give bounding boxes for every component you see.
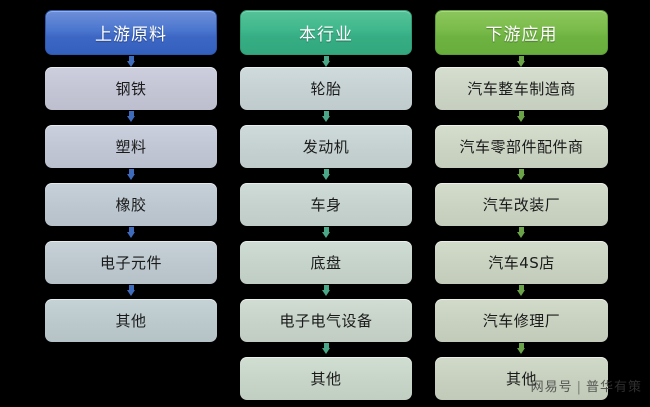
node-downstream-2[interactable]: 汽车改装厂	[435, 183, 608, 226]
node-industry-4[interactable]: 电子电气设备	[240, 299, 412, 342]
arrow-head	[127, 232, 135, 238]
arrow-down-icon	[127, 56, 136, 67]
node-label: 电子电气设备	[279, 310, 372, 331]
arrow-down-icon	[322, 111, 331, 122]
node-label: 橡胶	[115, 194, 146, 215]
node-label: 汽车整车制造商	[467, 78, 576, 99]
arrow-down-icon	[322, 227, 331, 238]
arrow-down-icon	[127, 111, 136, 122]
arrow-head	[517, 174, 525, 180]
node-upstream-1[interactable]: 塑料	[45, 125, 217, 168]
node-label: 汽车修理厂	[483, 310, 561, 331]
column-downstream: 下游应用汽车整车制造商汽车零部件配件商汽车改装厂汽车4S店汽车修理厂其他	[435, 0, 608, 407]
node-label: 其他	[506, 368, 537, 389]
arrow-head	[517, 116, 525, 122]
arrow-down-icon	[127, 285, 136, 296]
arrow-down-icon	[517, 56, 526, 67]
arrow-head	[322, 290, 330, 296]
arrow-down-icon	[517, 111, 526, 122]
arrow-down-icon	[322, 56, 331, 67]
arrow-head	[127, 290, 135, 296]
arrow-head	[127, 174, 135, 180]
industry-chain-diagram: 上游原料钢铁塑料橡胶电子元件其他本行业轮胎发动机车身底盘电子电气设备其他下游应用…	[0, 0, 650, 407]
node-industry-3[interactable]: 底盘	[240, 241, 412, 284]
node-downstream-4[interactable]: 汽车修理厂	[435, 299, 608, 342]
column-header-upstream[interactable]: 上游原料	[45, 10, 217, 55]
node-label: 钢铁	[115, 78, 146, 99]
arrow-head	[322, 232, 330, 238]
node-label: 电子元件	[100, 252, 162, 273]
arrow-down-icon	[322, 285, 331, 296]
column-header-label: 下游应用	[486, 20, 558, 45]
arrow-head	[322, 116, 330, 122]
arrow-down-icon	[322, 169, 331, 180]
column-upstream: 上游原料钢铁塑料橡胶电子元件其他	[45, 0, 217, 407]
node-upstream-2[interactable]: 橡胶	[45, 183, 217, 226]
node-industry-1[interactable]: 发动机	[240, 125, 412, 168]
node-upstream-0[interactable]: 钢铁	[45, 67, 217, 110]
arrow-down-icon	[517, 285, 526, 296]
arrow-head	[517, 290, 525, 296]
node-label: 其他	[310, 368, 341, 389]
arrow-head	[127, 116, 135, 122]
arrow-down-icon	[517, 169, 526, 180]
node-label: 汽车改装厂	[483, 194, 561, 215]
node-label: 汽车零部件配件商	[459, 136, 583, 157]
arrow-down-icon	[517, 227, 526, 238]
node-downstream-0[interactable]: 汽车整车制造商	[435, 67, 608, 110]
column-industry: 本行业轮胎发动机车身底盘电子电气设备其他	[240, 0, 412, 407]
node-label: 发动机	[303, 136, 350, 157]
node-label: 其他	[115, 310, 146, 331]
node-downstream-3[interactable]: 汽车4S店	[435, 241, 608, 284]
node-industry-5[interactable]: 其他	[240, 357, 412, 400]
node-label: 车身	[310, 194, 341, 215]
node-downstream-5[interactable]: 其他	[435, 357, 608, 400]
arrow-down-icon	[517, 343, 526, 354]
arrow-head	[322, 174, 330, 180]
node-industry-2[interactable]: 车身	[240, 183, 412, 226]
node-label: 汽车4S店	[488, 252, 555, 273]
node-label: 底盘	[310, 252, 341, 273]
column-header-industry[interactable]: 本行业	[240, 10, 412, 55]
arrow-head	[517, 232, 525, 238]
arrow-head	[517, 348, 525, 354]
node-downstream-1[interactable]: 汽车零部件配件商	[435, 125, 608, 168]
arrow-down-icon	[127, 169, 136, 180]
arrow-down-icon	[322, 343, 331, 354]
arrow-down-icon	[127, 227, 136, 238]
node-label: 塑料	[115, 136, 146, 157]
node-label: 轮胎	[310, 78, 341, 99]
column-header-label: 上游原料	[95, 20, 167, 45]
node-upstream-3[interactable]: 电子元件	[45, 241, 217, 284]
column-header-label: 本行业	[299, 20, 353, 45]
node-upstream-4[interactable]: 其他	[45, 299, 217, 342]
node-industry-0[interactable]: 轮胎	[240, 67, 412, 110]
column-header-downstream[interactable]: 下游应用	[435, 10, 608, 55]
arrow-head	[322, 348, 330, 354]
